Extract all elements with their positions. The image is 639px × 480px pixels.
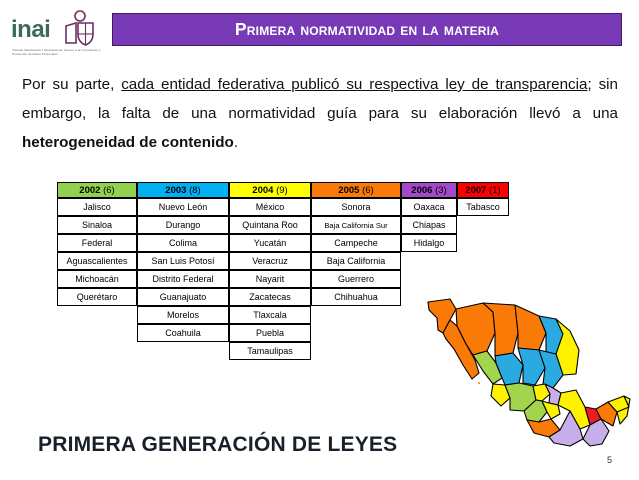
header-year-2004: 2004 [252, 185, 273, 196]
table-cell: Puebla [229, 324, 311, 342]
header-count-2004: (9) [276, 185, 288, 196]
table-cell: Jalisco [57, 198, 137, 216]
paragraph-underlined: cada entidad federativa publicó su respe… [121, 76, 587, 93]
header-year-2002: 2002 [79, 185, 100, 196]
inai-logo-icon: inai [10, 8, 106, 48]
table-cell: Guanajuato [137, 288, 229, 306]
table-cell: Chiapas [401, 216, 457, 234]
table-cell: Nayarit [229, 270, 311, 288]
table-cell: Querétaro [57, 288, 137, 306]
table-cell: Oaxaca [401, 198, 457, 216]
table-cell-empty [57, 342, 137, 360]
table-header-2007: 2007 (1) [457, 182, 509, 198]
page-number: 5 [607, 455, 612, 465]
page-title: Primera normatividad en la materia [235, 19, 499, 40]
footer-title: PRIMERA GENERACIÓN DE LEYES [38, 433, 397, 457]
table-cell-empty [457, 252, 509, 270]
header-count-2002: (6) [103, 185, 115, 196]
table-header-2003: 2003 (8) [137, 182, 229, 198]
table-cell-empty [137, 342, 229, 360]
table-cell: Sonora [311, 198, 401, 216]
table-cell-empty [457, 216, 509, 234]
table-cell: Veracruz [229, 252, 311, 270]
header-count-2006: (3) [435, 185, 447, 196]
table-cell: Baja California Sur [311, 216, 401, 234]
table-cell: Michoacán [57, 270, 137, 288]
table-cell: Campeche [311, 234, 401, 252]
table-row: SinaloaDurangoQuintana RooBaja Californi… [57, 216, 509, 234]
body-paragraph: Por su parte, cada entidad federativa pu… [22, 70, 618, 157]
table-cell-empty [401, 252, 457, 270]
table-cell: Yucatán [229, 234, 311, 252]
table-cell: Distrito Federal [137, 270, 229, 288]
table-cell: Zacatecas [229, 288, 311, 306]
header-count-2007: (1) [489, 185, 501, 196]
paragraph-bold: heterogeneidad de contenido [22, 134, 234, 151]
table-row: AguascalientesSan Luis PotosíVeracruzBaj… [57, 252, 509, 270]
table-cell: Morelos [137, 306, 229, 324]
table-cell: Federal [57, 234, 137, 252]
header-count-2003: (8) [189, 185, 201, 196]
table-header-row: 2002 (6) 2003 (8) 2004 (9) 2005 (6) 2006… [57, 182, 509, 198]
table-cell-empty [57, 324, 137, 342]
svg-text:inai: inai [11, 16, 50, 43]
table-header-2006: 2006 (3) [401, 182, 457, 198]
table-cell: Nuevo León [137, 198, 229, 216]
table-cell: Tabasco [457, 198, 509, 216]
table-cell: Guerrero [311, 270, 401, 288]
table-cell-empty [311, 342, 401, 360]
slide-title-banner: Primera normatividad en la materia [112, 13, 622, 46]
table-cell: San Luis Potosí [137, 252, 229, 270]
header-year-2007: 2007 [465, 185, 486, 196]
mexico-map [420, 285, 635, 455]
table-cell: Aguascalientes [57, 252, 137, 270]
table-header-2005: 2005 (6) [311, 182, 401, 198]
header-year-2006: 2006 [411, 185, 432, 196]
header-count-2005: (6) [362, 185, 374, 196]
table-cell: Durango [137, 216, 229, 234]
header-year-2003: 2003 [165, 185, 186, 196]
table-cell-empty [311, 324, 401, 342]
table-cell: Colima [137, 234, 229, 252]
inai-logo: inai Instituto Nacional de Transparencia… [10, 8, 106, 60]
table-header-2004: 2004 (9) [229, 182, 311, 198]
table-row: JaliscoNuevo LeónMéxicoSonoraOaxacaTabas… [57, 198, 509, 216]
table-cell: México [229, 198, 311, 216]
table-cell: Coahuila [137, 324, 229, 342]
table-cell: Baja California [311, 252, 401, 270]
table-cell-empty [57, 306, 137, 324]
table-cell: Hidalgo [401, 234, 457, 252]
inai-logo-subtitle: Instituto Nacional de Transparencia, Acc… [12, 48, 104, 56]
paragraph-part-1: Por su parte, [22, 76, 121, 93]
table-cell-empty [311, 306, 401, 324]
table-cell: Tlaxcala [229, 306, 311, 324]
table-cell: Quintana Roo [229, 216, 311, 234]
table-cell-empty [457, 234, 509, 252]
header-year-2005: 2005 [338, 185, 359, 196]
table-row: FederalColimaYucatánCampecheHidalgo [57, 234, 509, 252]
table-cell: Sinaloa [57, 216, 137, 234]
table-cell: Tamaulipas [229, 342, 311, 360]
paragraph-part-3: . [234, 134, 238, 151]
table-header-2002: 2002 (6) [57, 182, 137, 198]
table-cell: Chihuahua [311, 288, 401, 306]
